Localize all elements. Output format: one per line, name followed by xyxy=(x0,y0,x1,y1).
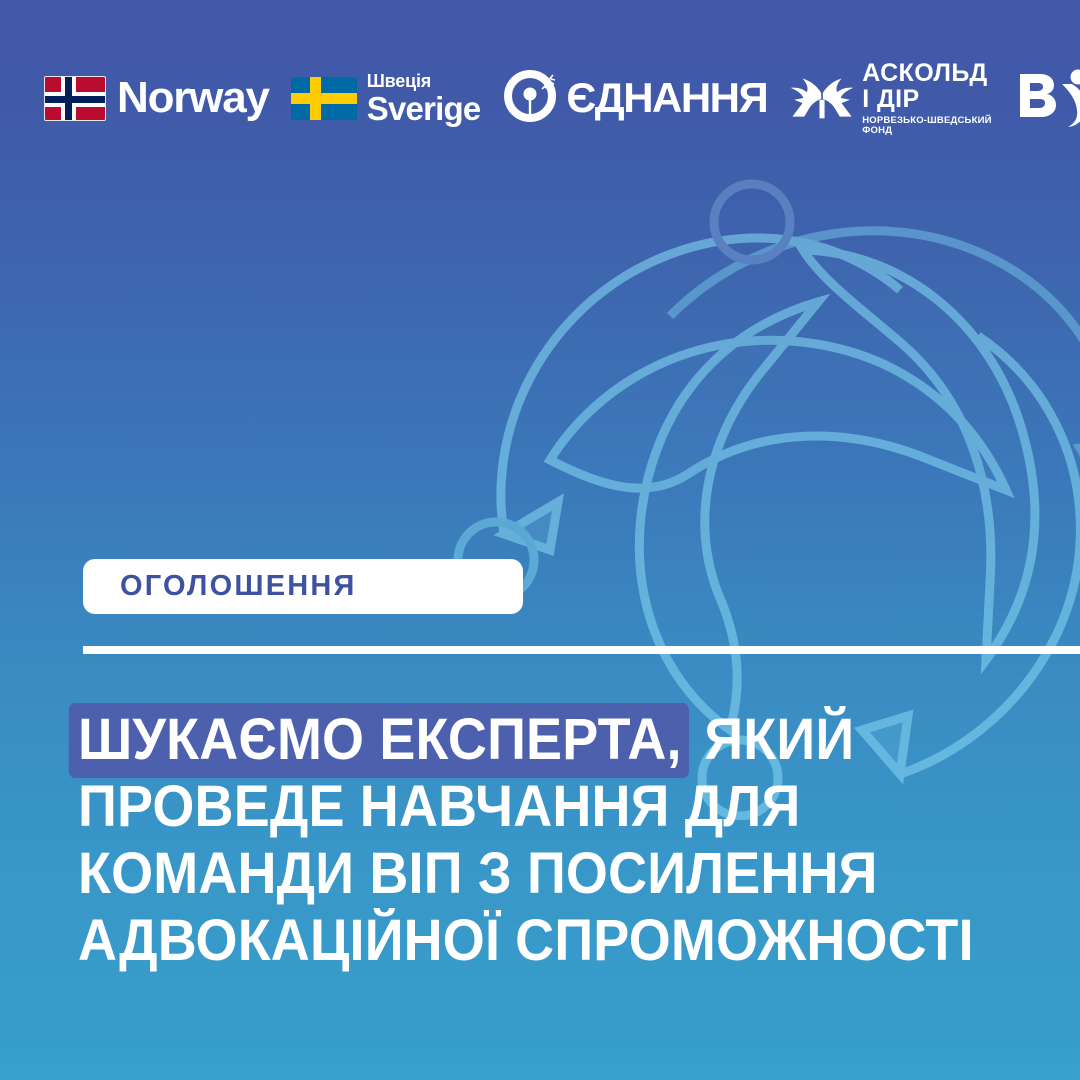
askold-i-dir-logo: АСКОЛЬД І ДІР НОРВЕЗЬКО-ШВЕДСЬКИЙ ФОНД xyxy=(789,61,999,135)
askold-subtitle: НОРВЕЗЬКО-ШВЕДСЬКИЙ ФОНД xyxy=(862,116,999,135)
headline-line-3: КОМАНДИ ВІП З ПОСИЛЕННЯ xyxy=(78,840,999,907)
headline-line-1-rest: ЯКИЙ xyxy=(689,707,854,772)
sweden-flag-icon xyxy=(291,77,357,120)
yednannia-wordmark: ЄДНАННЯ xyxy=(566,77,767,119)
sweden-logo: Швеція Sverige xyxy=(291,72,481,125)
dandelion-circle-icon xyxy=(504,70,560,126)
yednannia-logo: ЄДНАННЯ xyxy=(504,70,767,126)
sweden-label-uk: Швеція xyxy=(367,72,481,90)
headline-line-1: ШУКАЄМО ЕКСПЕРТА, ЯКИЙ xyxy=(78,706,999,773)
twin-winged-griffins-icon xyxy=(789,70,855,126)
vyp-person-icon xyxy=(1018,68,1080,128)
headline-line-2: ПРОВЕДЕ НАВЧАННЯ ДЛЯ xyxy=(78,773,999,840)
announcement-poster: Norway Швеція Sverige ЄДНАНН xyxy=(0,0,1080,1080)
announcement-badge-label: ОГОЛОШЕННЯ xyxy=(120,570,357,603)
askold-line-1: АСКОЛЬД xyxy=(862,61,999,86)
norway-wordmark: Norway xyxy=(117,76,269,120)
norway-flag-icon xyxy=(44,76,106,121)
norway-logo: Norway xyxy=(44,76,269,121)
announcement-badge: ОГОЛОШЕННЯ xyxy=(83,559,523,614)
headline-highlight: ШУКАЄМО ЕКСПЕРТА, xyxy=(69,703,689,778)
donor-logo-bar: Norway Швеція Sverige ЄДНАНН xyxy=(44,58,1080,138)
vyp-logo xyxy=(1018,68,1080,128)
sweden-label-sv: Sverige xyxy=(367,92,481,125)
headline-line-4: АДВОКАЦІЙНОЇ СПРОМОЖНОСТІ xyxy=(78,907,999,974)
horizontal-divider xyxy=(83,646,1080,654)
askold-line-2: І ДІР xyxy=(862,87,999,112)
sweden-wordmark: Швеція Sverige xyxy=(367,72,481,125)
headline-block: ШУКАЄМО ЕКСПЕРТА, ЯКИЙ ПРОВЕДЕ НАВЧАННЯ … xyxy=(78,706,1068,974)
askold-wordmark: АСКОЛЬД І ДІР НОРВЕЗЬКО-ШВЕДСЬКИЙ ФОНД xyxy=(862,61,999,135)
